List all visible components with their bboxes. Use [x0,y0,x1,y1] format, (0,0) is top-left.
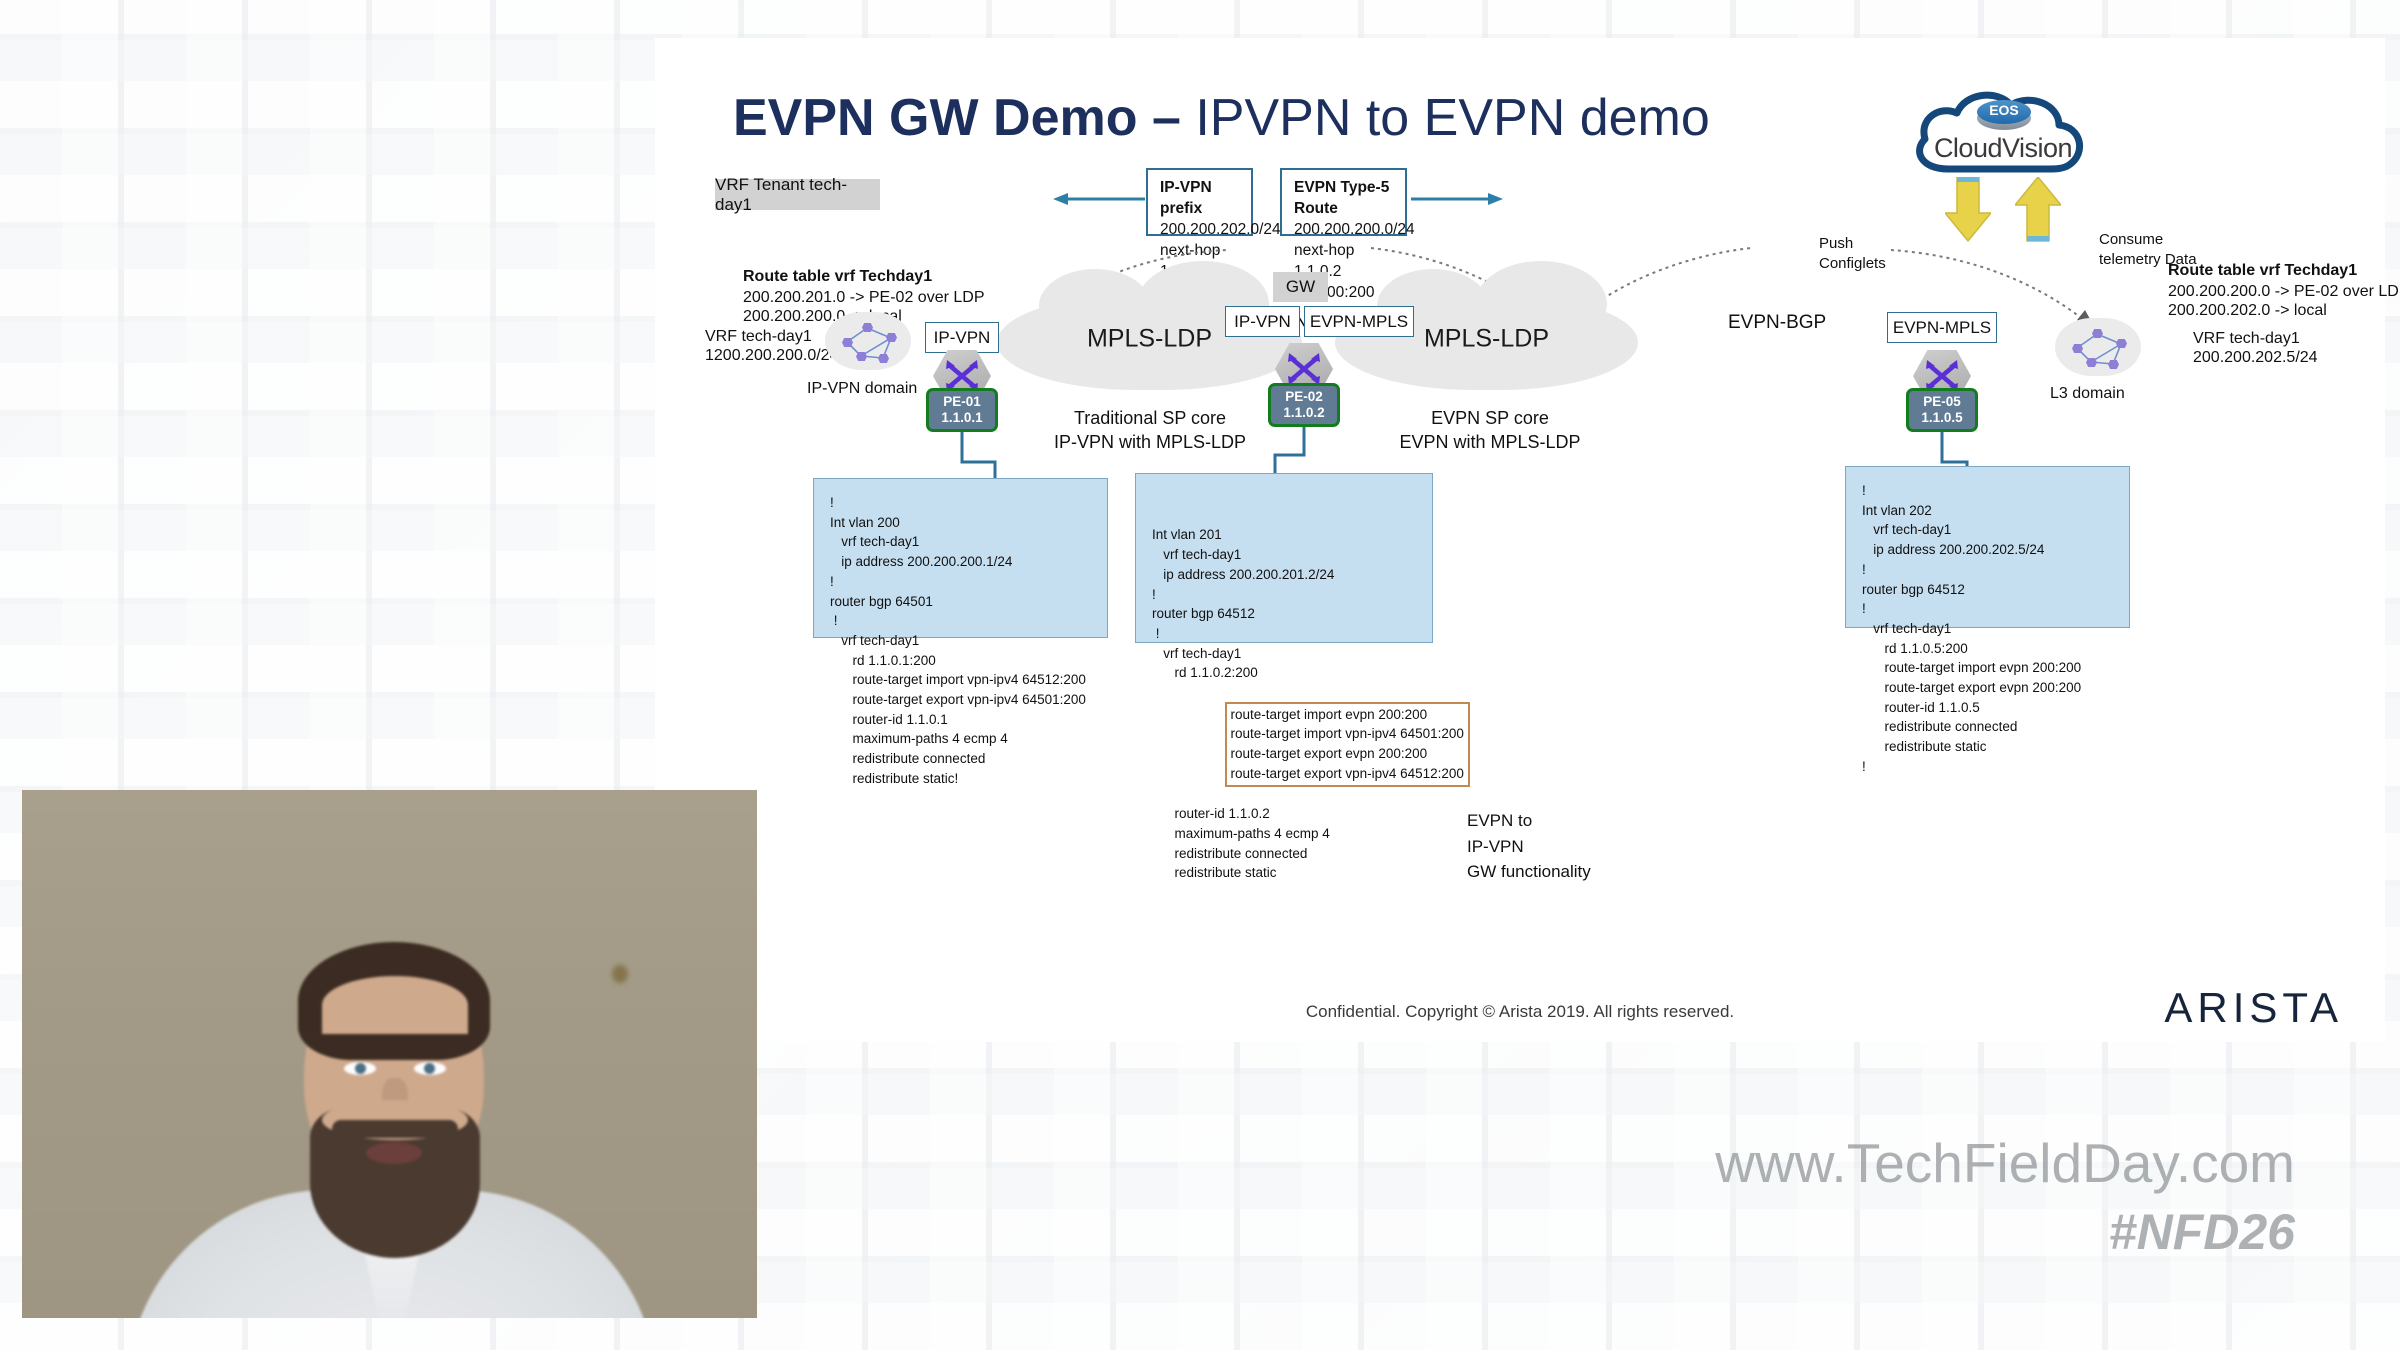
cloudvision-logo: EOS CloudVision [1903,81,2103,211]
node-pe02-name: PE-02 [1285,389,1323,405]
page-title-separator: – [1138,89,1196,147]
left-flow-arrow-icon [1053,188,1149,210]
chip-pe02-ipvpn: IP-VPN [1225,306,1300,337]
config-panel-pe02: Int vlan 201 vrf tech-day1 ip address 20… [1135,473,1433,643]
arista-logo: ARISTA [2164,984,2343,1032]
ip-vpn-domain-cloud-icon [825,312,911,370]
presentation-slide: EVPN GW Demo – IPVPN to EVPN demo EOS Cl… [655,38,2385,1042]
ip-vpn-domain-label: IP-VPN domain [807,378,917,400]
chip-pe05-evpn-mpls: EVPN-MPLS [1887,312,1997,343]
l3-domain-label: L3 domain [2050,383,2125,405]
chip-pe02-evpn-mpls: EVPN-MPLS [1304,306,1414,337]
vrf-tenant-chip: VRF Tenant tech-day1 [715,179,880,210]
evpn-core-caption-2: EVPN with MPLS-LDP [1345,430,1635,454]
evpn-type5-header: EVPN Type-5 Route [1294,178,1395,220]
webcam-softness-overlay [22,790,757,1318]
node-pe02-ip: 1.1.0.2 [1283,405,1324,421]
right-route-table-line-2: 200.200.202.0 -> local [2168,300,2327,322]
evpn-core-caption-1: EVPN SP core [1355,406,1625,430]
node-pe05-ip: 1.1.0.5 [1921,410,1962,426]
watermark-url: www.TechFieldDay.com [1715,1131,2295,1195]
arc-label-evpn-bgp: EVPN-BGP [1728,310,1826,336]
left-route-table-header: Route table vrf Techday1 [743,266,932,288]
config-panel-pe01: ! Int vlan 200 vrf tech-day1 ip address … [813,478,1108,638]
config-pe02-highlighted-route-targets: route-target import evpn 200:200 route-t… [1227,704,1468,785]
ip-vpn-prefix-header: IP-VPN prefix [1160,178,1241,220]
node-pe01-ip: 1.1.0.1 [941,410,982,426]
page-title-sub: IPVPN to EVPN demo [1195,89,1709,147]
node-pe01: PE-01 1.1.0.1 [926,388,998,432]
ip-vpn-prefix-box: IP-VPN prefix 200.200.202.0/24 next-hop … [1146,168,1253,236]
page-title-main: EVPN GW Demo [733,89,1138,147]
right-flow-arrow-icon [1407,188,1503,210]
gw-functionality-note: EVPN to IP-VPN GW functionality [1467,808,1591,885]
config-pe02-tail: router-id 1.1.0.2 maximum-paths 4 ecmp 4… [1152,804,1420,883]
l3-domain-cloud-icon [2055,318,2141,376]
left-vrf-line-2: 1200.200.200.0/24 [705,345,838,367]
connector-pe02 [1255,427,1355,477]
node-pe05: PE-05 1.1.0.5 [1906,388,1978,432]
right-route-table-header: Route table vrf Techday1 [2168,260,2357,282]
chip-pe01-ipvpn: IP-VPN [925,322,999,353]
watermark-hashtag: #NFD26 [2109,1203,2295,1261]
evpn-type5-route-box: EVPN Type-5 Route 200.200.200.0/24 next-… [1280,168,1407,236]
node-pe01-name: PE-01 [943,394,981,410]
connector-pe01 [925,432,1045,482]
traditional-core-caption-1: Traditional SP core [1010,406,1290,430]
node-pe05-name: PE-05 [1923,394,1961,410]
cloudvision-label: CloudVision [1903,133,2103,164]
config-pe02-head: Int vlan 201 vrf tech-day1 ip address 20… [1152,525,1420,683]
presenter-webcam-video[interactable] [22,790,757,1318]
config-panel-pe05: ! Int vlan 202 vrf tech-day1 ip address … [1845,466,2130,628]
slide-footer: Confidential. Copyright © Arista 2019. A… [655,1002,2385,1022]
eos-badge-label: EOS [1977,102,2031,118]
chip-gw: GW [1273,272,1328,302]
eos-badge-icon: EOS [1977,100,2031,132]
screen-background: www.TechFieldDay.com #NFD26 EVPN GW Demo… [0,0,2400,1350]
right-vrf-line-2: 200.200.202.5/24 [2193,347,2318,369]
node-pe02: PE-02 1.1.0.2 [1268,383,1340,427]
page-title: EVPN GW Demo – IPVPN to EVPN demo [733,88,1710,148]
